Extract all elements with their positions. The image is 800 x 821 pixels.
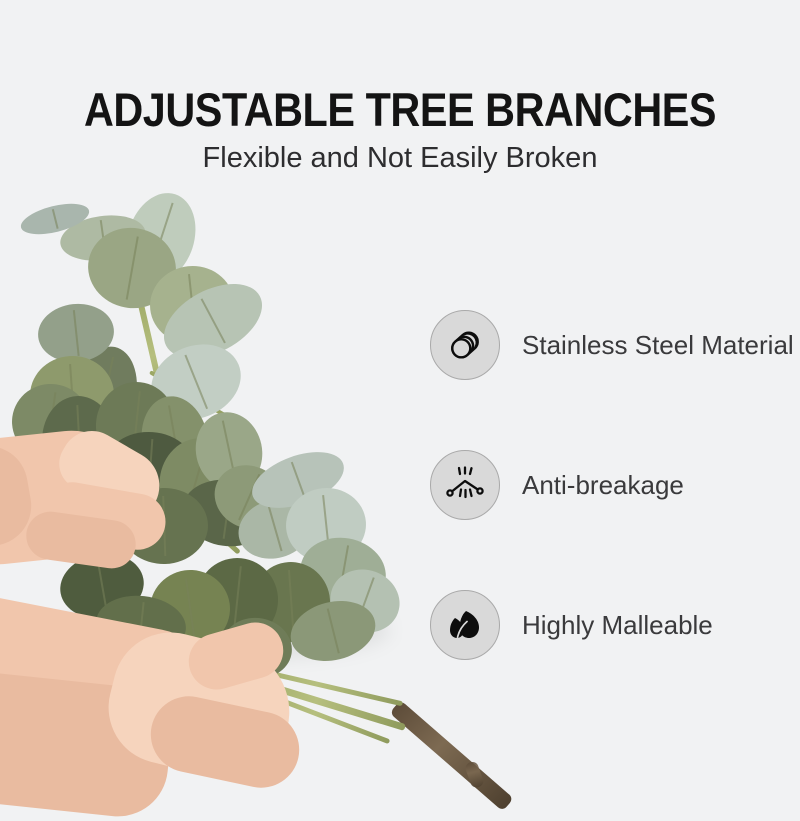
feature-item-anti-breakage: Anti-breakage: [430, 450, 800, 520]
feature-label: Highly Malleable: [522, 610, 713, 641]
bending-rod-icon-badge: [430, 450, 500, 520]
feature-label: Anti-breakage: [522, 470, 684, 501]
page-subtitle: Flexible and Not Easily Broken: [0, 142, 800, 175]
wooden-branch: [389, 700, 513, 811]
steel-wire-coil-icon-badge: [430, 310, 500, 380]
feature-list: Stainless Steel Material: [430, 310, 800, 660]
steel-wire-coil-icon: [444, 324, 486, 366]
bending-rod-icon: [443, 463, 487, 507]
leaf-sprout-icon-badge: [430, 590, 500, 660]
feature-label: Stainless Steel Material: [522, 330, 794, 361]
product-banner: ADJUSTABLE TREE BRANCHES Flexible and No…: [0, 0, 800, 800]
feature-item-highly-malleable: Highly Malleable: [430, 590, 800, 660]
feature-item-stainless-steel: Stainless Steel Material: [430, 310, 800, 380]
leaf-sprout-icon: [444, 604, 486, 646]
page-title: ADJUSTABLE TREE BRANCHES: [48, 82, 752, 137]
